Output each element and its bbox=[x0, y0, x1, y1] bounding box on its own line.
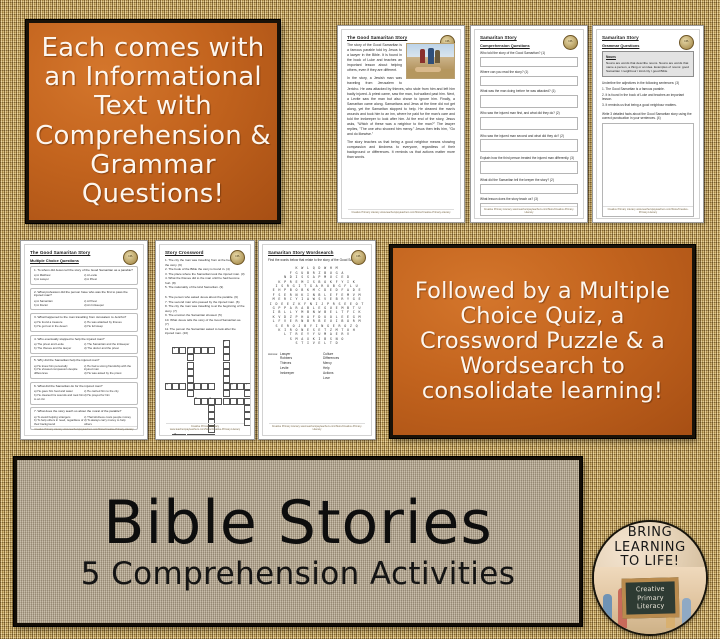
mcq-question: 1. To whom did Jesus tell the story of t… bbox=[34, 269, 134, 273]
crossword-cell[interactable] bbox=[223, 376, 230, 383]
crossword-cell[interactable] bbox=[187, 362, 194, 369]
page-multiple-choice-quiz[interactable]: CPL The Good Samaritan Story Multiple Ch… bbox=[20, 240, 148, 440]
crossword-cell[interactable] bbox=[215, 398, 222, 405]
crossword-cell[interactable] bbox=[194, 434, 201, 436]
mcq-option[interactable]: b) He got lost in the desert bbox=[34, 325, 84, 329]
crossword-cell-number: 8 bbox=[195, 398, 196, 400]
grammar-info-body: Nouns are words that describe nouns. Nou… bbox=[606, 61, 690, 74]
page-comprehension-questions[interactable]: CPL Samaritan Story Comprehension Questi… bbox=[470, 25, 588, 223]
logo-line-2: LEARNING bbox=[594, 541, 706, 556]
crossword-cell[interactable]: 5 bbox=[165, 383, 172, 390]
crossword-cell[interactable] bbox=[194, 383, 201, 390]
crossword-cell[interactable]: 3 bbox=[223, 340, 230, 347]
logo-stamp-icon: CPL bbox=[563, 35, 578, 50]
crossword-cell[interactable]: 6 bbox=[230, 383, 237, 390]
info-text-paragraph-3: The story teaches us that being a good n… bbox=[347, 140, 455, 160]
page-grammar-questions[interactable]: CPL Samaritan Story Grammar Questions No… bbox=[592, 25, 704, 223]
mcq-item[interactable]: 4. Who eventually stopped to help the in… bbox=[30, 335, 138, 354]
crossword-cell[interactable] bbox=[187, 390, 194, 397]
grammar-task: 3. It reminds us that being a good neigh… bbox=[602, 103, 694, 107]
page-informational-text-body: CPL The Good Samaritan Story The story o… bbox=[341, 29, 461, 219]
question-text: Where can you read the story? (1) bbox=[480, 70, 578, 74]
crossword-cell[interactable] bbox=[187, 354, 194, 361]
mcq-option[interactable]: b) He showed compassion despite differen… bbox=[34, 368, 84, 376]
crossword-cell-number: 5 bbox=[166, 384, 167, 386]
crossword-cell[interactable]: 10 bbox=[172, 434, 179, 436]
page-wordsearch[interactable]: CPL Samaritan Story Wordsearch Find the … bbox=[258, 240, 376, 440]
answer-field[interactable] bbox=[480, 57, 578, 67]
crossword-cell[interactable] bbox=[223, 347, 230, 354]
word-bank-column-2: CultureDifferencesMercyHelpActionsLove bbox=[323, 352, 366, 381]
crossword-cell[interactable] bbox=[194, 347, 201, 354]
crossword-cell[interactable] bbox=[244, 412, 251, 419]
page-comprehension-body: CPL Samaritan Story Comprehension Questi… bbox=[474, 29, 584, 219]
crossword-clue: 6. The person who asked Jesus about the … bbox=[165, 295, 245, 300]
crossword-cell[interactable]: 2 bbox=[187, 347, 194, 354]
crossword-cell-number: 7 bbox=[246, 384, 247, 386]
crossword-cell[interactable] bbox=[201, 434, 208, 436]
mcq-question: 7. What does the story teach us about th… bbox=[34, 410, 134, 414]
grammar-task: Underline the adjectives in the followin… bbox=[602, 81, 694, 85]
promo-panel-top: Each comes with an Informational Text wi… bbox=[26, 20, 280, 223]
logo-line-3: TO LIFE! bbox=[594, 555, 706, 570]
crossword-cell[interactable]: 8 bbox=[194, 398, 201, 405]
mcq-title: The Good Samaritan Story bbox=[30, 250, 138, 255]
mcq-option[interactable]: d) The doctor and the priest bbox=[84, 347, 134, 351]
question-text: Who saw the injured man first, and what … bbox=[480, 111, 578, 115]
crossword-cell[interactable] bbox=[223, 390, 230, 397]
crossword-clue: 4. What the thieves did to the man until… bbox=[165, 276, 245, 285]
mcq-option[interactable]: b) A Doctor bbox=[34, 304, 84, 308]
mcq-option[interactable]: b) A Lawyer bbox=[34, 278, 84, 282]
chalkboard-icon: Creative Primary Literacy bbox=[621, 577, 679, 618]
question-text: Who told the story of the Good Samaritan… bbox=[480, 51, 578, 55]
page-crossword-body: CPL Story Crossword 1. The city the man … bbox=[159, 244, 251, 436]
wordsearch-letter-grid[interactable]: K W L Q D W H M F G U B R Z B U G A N D … bbox=[268, 266, 366, 345]
logo-stamp-icon: CPL bbox=[679, 35, 694, 50]
crossword-cell[interactable]: 7 bbox=[244, 383, 251, 390]
grammar-task: 2. It is found in the book of Luke and t… bbox=[602, 93, 694, 101]
word-bank-item: Innkeeper bbox=[280, 371, 323, 376]
mcq-item[interactable]: 2. What profession did the person have w… bbox=[30, 288, 138, 311]
mcq-option[interactable]: d) He fell sleep bbox=[84, 325, 134, 329]
crossword-cell-number: 10 bbox=[174, 434, 177, 436]
crossword-cell-number: 1 bbox=[174, 348, 175, 350]
crossword-cell-number: 6 bbox=[231, 384, 232, 386]
mcq-item[interactable]: 5. Why did the Samaritan help the injure… bbox=[30, 356, 138, 379]
crossword-cell[interactable] bbox=[208, 383, 215, 390]
page-footer: Creative Primary Literacy www.teacherspa… bbox=[348, 209, 454, 215]
grammar-writing-area[interactable] bbox=[602, 123, 694, 217]
word-bank-label-across: Across: bbox=[268, 352, 280, 381]
page-grammar-body: CPL Samaritan Story Grammar Questions No… bbox=[596, 29, 700, 219]
crossword-cell[interactable] bbox=[187, 376, 194, 383]
crossword-cell[interactable] bbox=[208, 405, 215, 412]
crossword-cell[interactable] bbox=[208, 347, 215, 354]
crossword-cell[interactable] bbox=[223, 354, 230, 361]
crossword-clue: 8. The city the man was travelling to at… bbox=[165, 304, 245, 313]
crossword-cell[interactable] bbox=[244, 405, 251, 412]
mcq-option[interactable]: b) He cleaned his wounds and took him to… bbox=[34, 394, 84, 402]
crossword-cell[interactable] bbox=[223, 362, 230, 369]
mcq-question: 2. What profession did the person have w… bbox=[34, 291, 134, 299]
page-wordsearch-body: CPL Samaritan Story Wordsearch Find the … bbox=[262, 244, 372, 436]
mcq-option[interactable]: b) The thieves and the lawyer bbox=[34, 347, 84, 351]
question-text: Who saw the injured man second and what … bbox=[480, 134, 578, 138]
logo-tagline: BRING LEARNING TO LIFE! bbox=[594, 526, 706, 570]
page-footer: Creative Primary Literacy www.teacherspa… bbox=[481, 206, 577, 215]
promo-panel-bottom: Followed by a Multiple Choice Quiz, a Cr… bbox=[390, 245, 695, 438]
promo-text-top: Each comes with an Informational Text wi… bbox=[29, 32, 277, 211]
grammar-task: Write 3 detailed facts about the Good Sa… bbox=[602, 112, 694, 120]
question-text: Explain how the third person treated the… bbox=[480, 156, 578, 160]
info-text-paragraph-2: In the story, a Jewish man was traveling… bbox=[347, 76, 455, 137]
mcq-option[interactable]: d) He was asked by the priest bbox=[84, 372, 134, 376]
mcq-item[interactable]: 3. What happened to the man travelling f… bbox=[30, 313, 138, 332]
mcq-question: 5. Why did the Samaritan help the injure… bbox=[34, 359, 134, 363]
crossword-cell[interactable] bbox=[187, 369, 194, 376]
crossword-cell-number: 3 bbox=[224, 341, 225, 343]
product-title: Bible Stories bbox=[103, 493, 492, 553]
crossword-cell-number: 9 bbox=[210, 398, 211, 400]
mcq-question: 3. What happened to the man travelling f… bbox=[34, 316, 134, 320]
crossword-cell[interactable] bbox=[237, 398, 244, 405]
grammar-task: 1. The Good Samaritan is a famous parabl… bbox=[602, 87, 694, 91]
mcq-question: 4. Who eventually stopped to help the in… bbox=[34, 338, 134, 342]
mcq-option[interactable]: d) An Innkeeper bbox=[84, 304, 134, 308]
crossword-cell[interactable]: 9 bbox=[208, 398, 215, 405]
answer-field[interactable] bbox=[480, 184, 578, 194]
page-footer: Creative Primary Literacy www.teacherspa… bbox=[269, 423, 365, 432]
page-footer: Creative Primary Literacy www.teacherspa… bbox=[603, 206, 693, 215]
promo-text-bottom: Followed by a Multiple Choice Quiz, a Cr… bbox=[393, 277, 692, 407]
mcq-option[interactable]: d) A Priest bbox=[84, 278, 134, 282]
crossword-clue: 10. What Jesus tells the story of the Go… bbox=[165, 318, 245, 327]
crossword-clue: 11. The person the Samaritan asked to lo… bbox=[165, 327, 245, 336]
crossword-cell[interactable] bbox=[223, 369, 230, 376]
crossword-cell[interactable]: 1 bbox=[172, 347, 179, 354]
crossword-cell[interactable] bbox=[244, 398, 251, 405]
crossword-cell[interactable] bbox=[208, 412, 215, 419]
brand-name-line-3: Literacy bbox=[637, 602, 665, 611]
grammar-info-heading: Nouns bbox=[606, 55, 690, 59]
crossword-cell[interactable] bbox=[201, 398, 208, 405]
crossword-cell[interactable] bbox=[187, 383, 194, 390]
answer-field[interactable] bbox=[480, 139, 578, 152]
crossword-cell[interactable] bbox=[208, 434, 215, 436]
logo-line-1: BRING bbox=[594, 526, 706, 541]
question-text: What did the Samaritan tell the keeper t… bbox=[480, 178, 578, 182]
info-text-title: The Good Samaritan Story bbox=[347, 35, 455, 40]
title-banner: Bible Stories 5 Comprehension Activities bbox=[14, 457, 582, 626]
answer-field[interactable] bbox=[480, 76, 578, 86]
crossword-cell[interactable] bbox=[179, 434, 186, 436]
crossword-cell[interactable] bbox=[230, 398, 237, 405]
grammar-info-box: Nouns Nouns are words that describe noun… bbox=[602, 51, 694, 77]
crossword-cell[interactable] bbox=[237, 383, 244, 390]
crossword-cell[interactable] bbox=[172, 383, 179, 390]
product-subtitle: 5 Comprehension Activities bbox=[81, 559, 516, 590]
crossword-cell[interactable] bbox=[187, 434, 194, 436]
mcq-subtitle: Multiple Choice Questions bbox=[30, 258, 138, 263]
mcq-item[interactable]: 1. To whom did Jesus tell the story of t… bbox=[30, 266, 138, 285]
crossword-cell[interactable] bbox=[223, 398, 230, 405]
crossword-cell[interactable] bbox=[244, 419, 251, 426]
wordsearch-word-bank: Across: LawyerRobbersThievesLeviteInnkee… bbox=[268, 352, 366, 381]
answer-field[interactable] bbox=[480, 117, 578, 130]
page-crossword[interactable]: CPL Story Crossword 1. The city the man … bbox=[155, 240, 255, 440]
crossword-cell[interactable] bbox=[201, 347, 208, 354]
crossword-cell[interactable] bbox=[223, 383, 230, 390]
logo-stamp-icon: CPL bbox=[351, 250, 366, 265]
crossword-cell-number: 2 bbox=[188, 348, 189, 350]
mcq-item[interactable]: 6. What did the Samaritan do for the inj… bbox=[30, 382, 138, 405]
crossword-cell[interactable] bbox=[244, 390, 251, 397]
logo-stamp-icon: CPL bbox=[123, 250, 138, 265]
answer-field[interactable] bbox=[480, 95, 578, 108]
page-footer: Creative Primary Literacy www.teacherspa… bbox=[31, 426, 137, 432]
question-text: What was the man doing before he was att… bbox=[480, 89, 578, 93]
crossword-cell[interactable] bbox=[201, 383, 208, 390]
page-mcq-body: CPL The Good Samaritan Story Multiple Ch… bbox=[24, 244, 144, 436]
word-bank-item: Love bbox=[323, 376, 366, 381]
crossword-cell[interactable] bbox=[179, 383, 186, 390]
word-bank-column-1: LawyerRobbersThievesLeviteInnkeeper bbox=[280, 352, 323, 381]
mcq-question: 6. What did the Samaritan do for the inj… bbox=[34, 385, 134, 389]
question-text: What lesson does the story teach us? (3) bbox=[480, 197, 578, 201]
answer-field[interactable] bbox=[480, 161, 578, 174]
crossword-cell[interactable] bbox=[179, 347, 186, 354]
page-footer: Creative Primary Literacy www.teacherspa… bbox=[166, 423, 244, 432]
page-informational-text[interactable]: CPL The Good Samaritan Story The story o… bbox=[337, 25, 465, 223]
mcq-option[interactable]: d) He prayed for him bbox=[84, 394, 134, 398]
brand-logo-badge[interactable]: BRING LEARNING TO LIFE! Creative Primary… bbox=[592, 520, 708, 636]
logo-stamp-icon: CPL bbox=[230, 250, 245, 265]
good-samaritan-illustration bbox=[406, 43, 455, 79]
